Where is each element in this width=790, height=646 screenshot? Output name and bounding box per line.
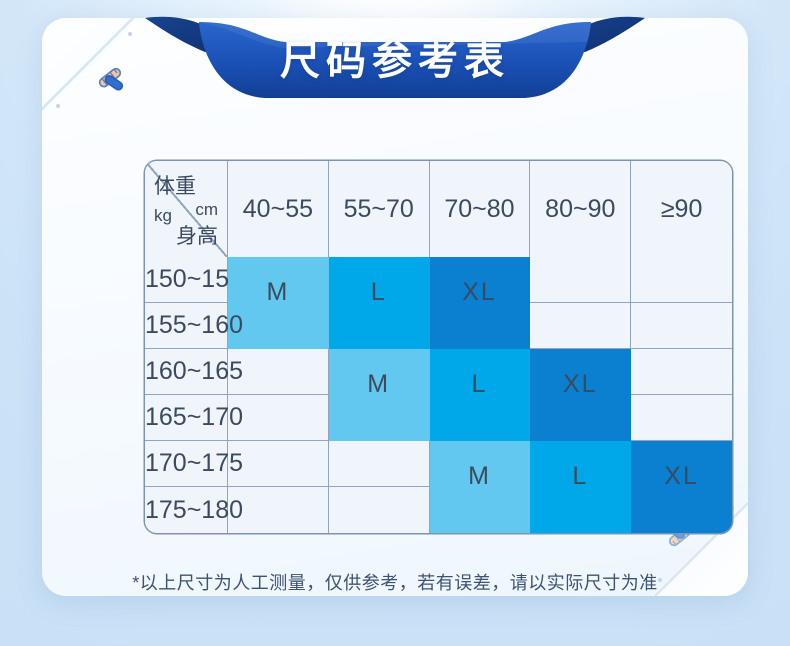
column-header-4: ≥90 — [631, 161, 732, 257]
corner-dot-tl-a — [56, 104, 60, 108]
empty-cell-r0-c3 — [530, 257, 631, 303]
size-cell-xl-r5-c4 — [631, 487, 732, 533]
size-cell-m-r3-c1 — [329, 395, 430, 441]
table-corner-cell: 体重 kg cm 身高 — [145, 161, 228, 257]
size-cell-xl-r3-c3 — [530, 395, 631, 441]
size-label-l: L — [530, 462, 630, 491]
table-row: 155~160 — [145, 303, 732, 349]
size-cell-m-r5-c2 — [430, 487, 531, 533]
empty-cell-r1-c4 — [631, 303, 732, 349]
table-row: 170~175MLXL — [145, 441, 732, 487]
size-reference-table: 体重 kg cm 身高 40~55 55~70 70~80 80~90 ≥90 … — [145, 161, 732, 533]
size-label-l: L — [329, 278, 429, 307]
row-header-0: 150~155 — [145, 257, 228, 303]
empty-cell-r2-c0 — [228, 349, 329, 395]
title-ribbon: 尺码参考表 — [135, 8, 655, 104]
size-cell-m-r4-c2: M — [430, 441, 531, 487]
empty-cell-r2-c4 — [631, 349, 732, 395]
size-label-xl: XL — [631, 462, 732, 491]
table-row: 165~170 — [145, 395, 732, 441]
column-header-3: 80~90 — [530, 161, 631, 257]
empty-cell-r3-c0 — [228, 395, 329, 441]
size-cell-xl-r0-c2: XL — [430, 257, 531, 303]
size-chart-card: 体重 kg cm 身高 40~55 55~70 70~80 80~90 ≥90 … — [42, 18, 748, 596]
size-cell-l-r2-c2: L — [430, 349, 531, 395]
table-header-row: 体重 kg cm 身高 40~55 55~70 70~80 80~90 ≥90 — [145, 161, 732, 257]
height-unit-text: cm — [195, 200, 218, 219]
height-text: 身高 — [176, 225, 218, 248]
size-label-m: M — [430, 462, 530, 491]
empty-cell-r3-c4 — [631, 395, 732, 441]
size-cell-l-r0-c1: L — [329, 257, 430, 303]
size-cell-l-r4-c3: L — [530, 441, 631, 487]
empty-cell-r4-c1 — [329, 441, 430, 487]
empty-cell-r5-c1 — [329, 487, 430, 533]
size-label-m: M — [228, 278, 328, 307]
row-header-2: 160~165 — [145, 349, 228, 395]
column-header-1: 55~70 — [329, 161, 430, 257]
corner-height-label: cm 身高 — [176, 193, 218, 249]
size-label-xl: XL — [430, 278, 530, 307]
weight-unit-text: kg — [154, 206, 172, 225]
size-cell-xl-r2-c3: XL — [530, 349, 631, 395]
size-cell-m-r1-c0 — [228, 303, 329, 349]
size-label-l: L — [430, 370, 530, 399]
row-header-1: 155~160 — [145, 303, 228, 349]
column-header-0: 40~55 — [228, 161, 329, 257]
column-header-2: 70~80 — [430, 161, 531, 257]
table-row: 175~180 — [145, 487, 732, 533]
size-cell-l-r5-c3 — [530, 487, 631, 533]
empty-cell-r1-c3 — [530, 303, 631, 349]
size-cell-l-r3-c2 — [430, 395, 531, 441]
row-header-3: 165~170 — [145, 395, 228, 441]
row-header-5: 175~180 — [145, 487, 228, 533]
table-row: 160~165MLXL — [145, 349, 732, 395]
ruler-tag-icon — [94, 62, 128, 96]
table-body: 150~155MLXL155~160160~165MLXL165~170170~… — [145, 257, 732, 533]
empty-cell-r5-c0 — [228, 487, 329, 533]
size-label-xl: XL — [530, 370, 630, 399]
size-cell-xl-r4-c4: XL — [631, 441, 732, 487]
size-cell-l-r1-c1 — [329, 303, 430, 349]
empty-cell-r4-c0 — [228, 441, 329, 487]
size-cell-m-r2-c1: M — [329, 349, 430, 395]
corner-dot-tl-b — [128, 32, 132, 36]
empty-cell-r0-c4 — [631, 257, 732, 303]
footnote-text: *以上尺寸为人工测量，仅供参考，若有误差，请以实际尺寸为准 — [42, 569, 748, 595]
row-header-4: 170~175 — [145, 441, 228, 487]
size-cell-m-r0-c0: M — [228, 257, 329, 303]
size-label-m: M — [329, 370, 429, 399]
size-cell-xl-r1-c2 — [430, 303, 531, 349]
table-row: 150~155MLXL — [145, 257, 732, 303]
page-title: 尺码参考表 — [135, 28, 655, 86]
